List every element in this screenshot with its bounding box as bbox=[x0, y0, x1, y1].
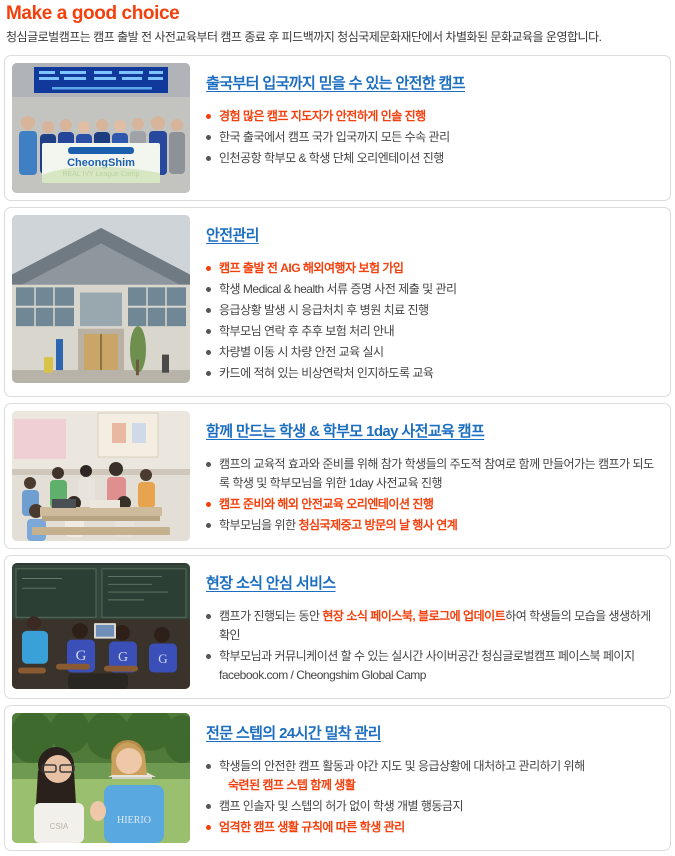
bullet-item: 캠프의 교육적 효과와 준비를 위해 참가 학생들의 주도적 참여로 함께 만들… bbox=[206, 455, 658, 493]
card-thumbnail-classroom-workshop-photo[interactable] bbox=[12, 411, 190, 541]
feature-card: CSIA HIERIO 전문 스텝의 24시간 밀착 관리학생들의 안전한 캠프… bbox=[4, 705, 671, 851]
bullet-text: 학생들의 안전한 캠프 활동과 야간 지도 및 응급상황에 대처하고 관리하기 … bbox=[219, 759, 585, 773]
bullet-text: 캠프의 교육적 효과와 준비를 위해 참가 학생들의 주도적 참여로 함께 만들… bbox=[219, 457, 654, 490]
card-body: 현장 소식 안심 서비스캠프가 진행되는 동안 현장 소식 페이스북, 블로그에… bbox=[190, 563, 662, 691]
bullet-item: 인천공항 학부모 & 학생 단체 오리엔테이션 진행 bbox=[206, 149, 658, 168]
bullet-item: 학부모님을 위한 청심국제중고 방문의 날 행사 연계 bbox=[206, 516, 658, 535]
svg-text:G: G bbox=[76, 648, 87, 664]
bullet-text: 카드에 적혀 있는 비상연락처 인지하도록 교육 bbox=[219, 366, 433, 380]
card-heading-link[interactable]: 안전관리 bbox=[206, 227, 259, 245]
card-heading-link[interactable]: 현장 소식 안심 서비스 bbox=[206, 575, 336, 593]
bullet-text: 인천공항 학부모 & 학생 단체 오리엔테이션 진행 bbox=[219, 151, 444, 165]
bullet-text: 캠프 준비와 해외 안전교육 오리엔테이션 진행 bbox=[219, 497, 433, 511]
card-bullet-list: 경험 많은 캠프 지도자가 안전하게 인솔 진행한국 출국에서 캠프 국가 입국… bbox=[206, 107, 658, 168]
bullet-text: 캠프 출발 전 AIG 해외여행자 보험 가입 bbox=[219, 261, 403, 275]
bullet-text-plain: 캠프가 진행되는 동안 bbox=[219, 609, 322, 623]
card-bullet-list: 캠프 출발 전 AIG 해외여행자 보험 가입학생 Medical & heal… bbox=[206, 259, 658, 383]
card-thumbnail-lecture-room-students-photo[interactable]: G G G bbox=[12, 563, 190, 689]
bullet-item: 캠프가 진행되는 동안 현장 소식 페이스북, 블로그에 업데이트하여 학생들의… bbox=[206, 607, 658, 645]
bullet-text: 캠프 인솔자 및 스텝의 허가 없이 학생 개별 행동금지 bbox=[219, 799, 463, 813]
svg-text:HIERIO: HIERIO bbox=[117, 815, 151, 826]
bullet-item: 경험 많은 캠프 지도자가 안전하게 인솔 진행 bbox=[206, 107, 658, 126]
card-body: 안전관리캠프 출발 전 AIG 해외여행자 보험 가입학생 Medical & … bbox=[190, 215, 662, 389]
bullet-item: 엄격한 캠프 생활 규칙에 따른 학생 관리 bbox=[206, 818, 658, 837]
bullet-item: 캠프 출발 전 AIG 해외여행자 보험 가입 bbox=[206, 259, 658, 278]
bullet-item: 학부모님과 커뮤니케이션 할 수 있는 실시간 사이버공간 청심글로벌캠프 페이… bbox=[206, 647, 658, 685]
bullet-item: 한국 출국에서 캠프 국가 입국까지 모든 수속 관리 bbox=[206, 128, 658, 147]
feature-card: G G G 현장 소식 안심 서비스캠프가 진행되는 동안 현장 소식 페이스북… bbox=[4, 555, 671, 699]
card-heading-link[interactable]: 전문 스텝의 24시간 밀착 관리 bbox=[206, 725, 381, 743]
bullet-text: 엄격한 캠프 생활 규칙에 따른 학생 관리 bbox=[219, 820, 405, 834]
svg-text:CSIA: CSIA bbox=[50, 822, 69, 831]
card-heading-link[interactable]: 함께 만드는 학생 & 학부모 1day 사전교육 캠프 bbox=[206, 423, 484, 441]
card-thumbnail-staff-and-student-outdoor-photo[interactable]: CSIA HIERIO bbox=[12, 713, 190, 843]
bullet-item: 차량별 이동 시 차량 안전 교육 실시 bbox=[206, 343, 658, 362]
bullet-item: 카드에 적혀 있는 비상연락처 인지하도록 교육 bbox=[206, 364, 658, 383]
bullet-text: 학생 Medical & health 서류 증명 사전 제출 및 관리 bbox=[219, 282, 457, 296]
bullet-item: 학생들의 안전한 캠프 활동과 야간 지도 및 응급상황에 대처하고 관리하기 … bbox=[206, 757, 658, 795]
bullet-text-indent-highlight: 숙련된 캠프 스텝 함께 생활 bbox=[219, 776, 658, 795]
feature-card-list: CheongShim REAL IVY League Camp 출국부터 입국까… bbox=[0, 55, 675, 851]
svg-text:G: G bbox=[118, 649, 128, 664]
page-header: Make a good choice 청심글로벌캠프는 캠프 출발 전 사전교육… bbox=[0, 0, 675, 45]
bullet-text: 응급상황 발생 시 응급처치 후 병원 치료 진행 bbox=[219, 303, 429, 317]
bullet-text: 학부모님과 커뮤니케이션 할 수 있는 실시간 사이버공간 청심글로벌캠프 페이… bbox=[219, 649, 635, 663]
bullet-text: 한국 출국에서 캠프 국가 입국까지 모든 수속 관리 bbox=[219, 130, 450, 144]
bullet-item: 학생 Medical & health 서류 증명 사전 제출 및 관리 bbox=[206, 280, 658, 299]
card-bullet-list: 캠프가 진행되는 동안 현장 소식 페이스북, 블로그에 업데이트하여 학생들의… bbox=[206, 607, 658, 685]
bullet-text-plain: 학부모님을 위한 bbox=[219, 518, 298, 532]
svg-text:G: G bbox=[158, 652, 167, 666]
card-heading-link[interactable]: 출국부터 입국까지 믿을 수 있는 안전한 캠프 bbox=[206, 75, 465, 93]
bullet-sub-line: facebook.com / Cheongshim Global Camp bbox=[219, 666, 658, 685]
feature-card: CheongShim REAL IVY League Camp 출국부터 입국까… bbox=[4, 55, 671, 201]
bullet-item: 캠프 인솔자 및 스텝의 허가 없이 학생 개별 행동금지 bbox=[206, 797, 658, 816]
card-thumbnail-airport-group-photo[interactable]: CheongShim REAL IVY League Camp bbox=[12, 63, 190, 193]
bullet-text: 경험 많은 캠프 지도자가 안전하게 인솔 진행 bbox=[219, 109, 426, 123]
card-bullet-list: 학생들의 안전한 캠프 활동과 야간 지도 및 응급상황에 대처하고 관리하기 … bbox=[206, 757, 658, 837]
bullet-text-highlight: 현장 소식 페이스북, 블로그에 업데이트 bbox=[322, 609, 505, 623]
bullet-item: 캠프 준비와 해외 안전교육 오리엔테이션 진행 bbox=[206, 495, 658, 514]
bullet-item: 학부모님 연락 후 추후 보험 처리 안내 bbox=[206, 322, 658, 341]
feature-card: 안전관리캠프 출발 전 AIG 해외여행자 보험 가입학생 Medical & … bbox=[4, 207, 671, 397]
page-subtitle: 청심글로벌캠프는 캠프 출발 전 사전교육부터 캠프 종료 후 피드백까지 청심… bbox=[6, 30, 669, 45]
bullet-text: 차량별 이동 시 차량 안전 교육 실시 bbox=[219, 345, 384, 359]
bullet-text-highlight: 청심국제중고 방문의 날 행사 연계 bbox=[298, 518, 457, 532]
card-bullet-list: 캠프의 교육적 효과와 준비를 위해 참가 학생들의 주도적 참여로 함께 만들… bbox=[206, 455, 658, 535]
card-body: 함께 만드는 학생 & 학부모 1day 사전교육 캠프캠프의 교육적 효과와 … bbox=[190, 411, 662, 541]
card-body: 출국부터 입국까지 믿을 수 있는 안전한 캠프경험 많은 캠프 지도자가 안전… bbox=[190, 63, 662, 174]
card-thumbnail-campus-building-photo[interactable] bbox=[12, 215, 190, 383]
feature-card: 함께 만드는 학생 & 학부모 1day 사전교육 캠프캠프의 교육적 효과와 … bbox=[4, 403, 671, 549]
page-title: Make a good choice bbox=[6, 4, 669, 24]
page-root: Make a good choice 청심글로벌캠프는 캠프 출발 전 사전교육… bbox=[0, 0, 675, 851]
bullet-item: 응급상황 발생 시 응급처치 후 병원 치료 진행 bbox=[206, 301, 658, 320]
card-body: 전문 스텝의 24시간 밀착 관리학생들의 안전한 캠프 활동과 야간 지도 및… bbox=[190, 713, 662, 843]
bullet-text: 학부모님 연락 후 추후 보험 처리 안내 bbox=[219, 324, 394, 338]
